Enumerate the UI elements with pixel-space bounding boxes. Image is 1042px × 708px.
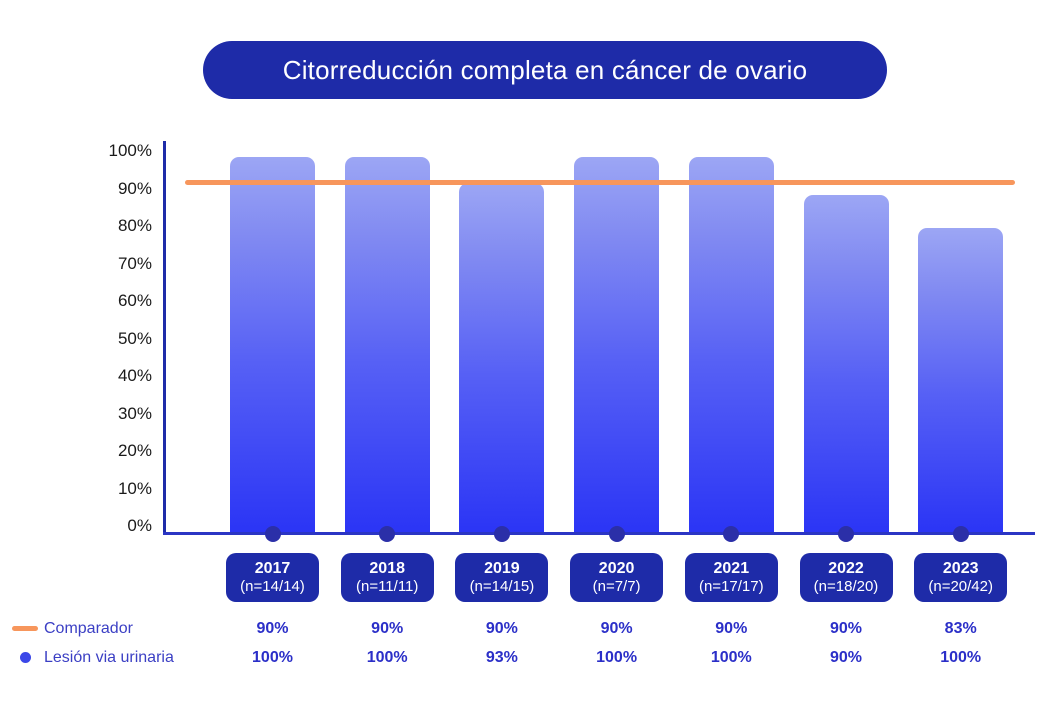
category-n-count: (n=20/42) — [928, 578, 993, 596]
bar-2022[interactable] — [804, 195, 889, 533]
comparador-threshold-line — [185, 180, 1015, 185]
category-year: 2021 — [714, 560, 750, 578]
axis-dot-2020 — [609, 526, 625, 542]
category-pill-2019[interactable]: 2019(n=14/15) — [455, 553, 548, 602]
category-pill-2018[interactable]: 2018(n=11/11) — [341, 553, 434, 602]
value-lesion-2022: 90% — [800, 643, 893, 672]
dot-marker — [20, 652, 31, 663]
value-lesion-2020: 100% — [570, 643, 663, 672]
category-year: 2017 — [255, 560, 291, 578]
legend-label-comparador: Comparador — [44, 614, 133, 643]
category-year: 2020 — [599, 560, 635, 578]
axis-dot-2017 — [265, 526, 281, 542]
category-n-count: (n=14/14) — [240, 578, 305, 596]
value-comparador-2021: 90% — [685, 614, 778, 643]
category-n-count: (n=17/17) — [699, 578, 764, 596]
value-lesion-2018: 100% — [341, 643, 434, 672]
axis-dot-2018 — [379, 526, 395, 542]
value-lesion-2019: 93% — [455, 643, 548, 672]
category-pill-2021[interactable]: 2021(n=17/17) — [685, 553, 778, 602]
category-year: 2022 — [828, 560, 864, 578]
value-lesion-2021: 100% — [685, 643, 778, 672]
bar-2021[interactable] — [689, 157, 774, 532]
legend-row-lesion: Lesión via urinaria100%100%93%100%100%90… — [0, 643, 1042, 672]
line-marker-icon — [8, 614, 42, 643]
bar-2020[interactable] — [574, 157, 659, 532]
axis-dot-2022 — [838, 526, 854, 542]
category-n-count: (n=18/20) — [814, 578, 879, 596]
value-comparador-2023: 83% — [914, 614, 1007, 643]
category-pill-2023[interactable]: 2023(n=20/42) — [914, 553, 1007, 602]
bars-layer: 2017(n=14/14)2018(n=11/11)2019(n=14/15)2… — [0, 0, 1042, 708]
category-n-count: (n=14/15) — [470, 578, 535, 596]
value-comparador-2020: 90% — [570, 614, 663, 643]
bar-2023[interactable] — [918, 228, 1003, 532]
value-comparador-2018: 90% — [341, 614, 434, 643]
dot-marker-icon — [8, 643, 42, 672]
axis-dot-2019 — [494, 526, 510, 542]
category-pill-2022[interactable]: 2022(n=18/20) — [800, 553, 893, 602]
legend-label-lesion: Lesión via urinaria — [44, 643, 174, 672]
value-comparador-2017: 90% — [226, 614, 319, 643]
category-pill-2020[interactable]: 2020(n=7/7) — [570, 553, 663, 602]
legend-and-value-table: Comparador90%90%90%90%90%90%83%Lesión vi… — [0, 614, 1042, 680]
value-comparador-2019: 90% — [455, 614, 548, 643]
axis-dot-2021 — [723, 526, 739, 542]
bar-2018[interactable] — [345, 157, 430, 532]
value-lesion-2023: 100% — [914, 643, 1007, 672]
category-year: 2023 — [943, 560, 979, 578]
value-comparador-2022: 90% — [800, 614, 893, 643]
axis-dot-2023 — [953, 526, 969, 542]
legend-row-comparador: Comparador90%90%90%90%90%90%83% — [0, 614, 1042, 643]
value-lesion-2017: 100% — [226, 643, 319, 672]
bar-2019[interactable] — [459, 183, 544, 532]
category-n-count: (n=11/11) — [356, 578, 418, 596]
category-year: 2018 — [369, 560, 405, 578]
category-n-count: (n=7/7) — [593, 578, 641, 596]
bar-2017[interactable] — [230, 157, 315, 532]
line-marker — [12, 626, 38, 631]
category-year: 2019 — [484, 560, 520, 578]
chart-plot-area: 100%90%80%70%60%50%40%30%20%10%0% 2017(n… — [0, 0, 1042, 708]
category-pill-2017[interactable]: 2017(n=14/14) — [226, 553, 319, 602]
